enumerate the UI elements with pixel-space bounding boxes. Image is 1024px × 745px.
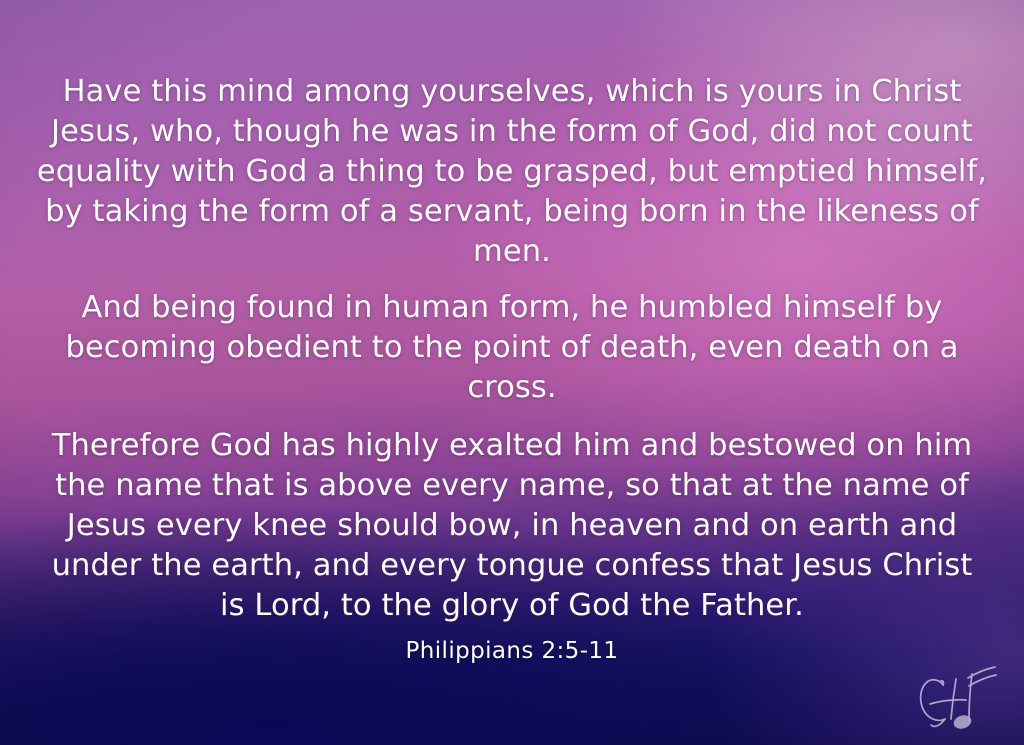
signature-icon <box>910 659 1006 737</box>
verse-poster: Have this mind among yourselves, which i… <box>0 0 1024 745</box>
verse-paragraph-3: Therefore God has highly exalted him and… <box>40 426 984 626</box>
scripture-citation: Philippians 2:5-11 <box>0 636 1024 666</box>
poster-content: Have this mind among yourselves, which i… <box>0 0 1024 745</box>
verse-text-block: Have this mind among yourselves, which i… <box>24 72 1000 626</box>
signature-monogram-chf <box>910 659 1006 737</box>
verse-paragraph-1: Have this mind among yourselves, which i… <box>36 72 988 272</box>
verse-paragraph-2: And being found in human form, he humble… <box>32 288 992 408</box>
